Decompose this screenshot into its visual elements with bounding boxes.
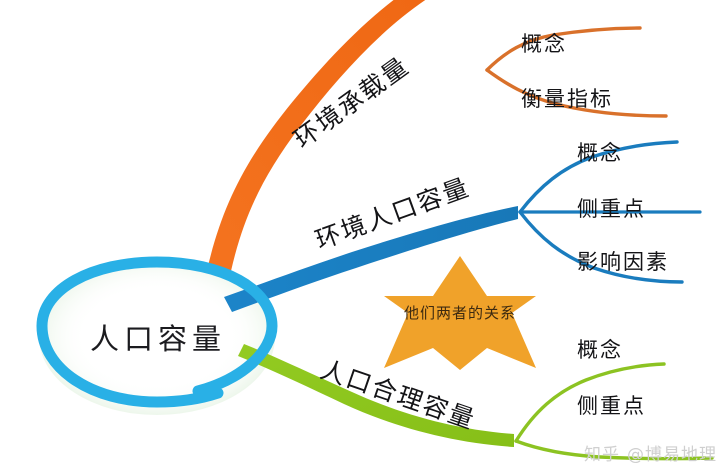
watermark: 知乎 @博易地理 [584,440,717,465]
relationship-star-label[interactable]: 他们两者的关系 [380,302,540,323]
leaf-label-green-concept[interactable]: 概念 [577,334,623,364]
leaf-label-green-focus-point[interactable]: 侧重点 [577,390,646,420]
watermark-site: 知乎 [584,440,620,465]
leaf-label-orange-concept[interactable]: 概念 [521,28,567,58]
leaf-label-blue-concept[interactable]: 概念 [577,137,623,167]
leaf-label-blue-influencing-factors[interactable]: 影响因素 [577,246,669,276]
mind-map-canvas: 人口容量 环境承载量 环境人口容量 人口合理容量 概念 衡量指标 概念 侧重点 … [0,0,727,473]
leaf-label-blue-focus-point[interactable]: 侧重点 [577,193,646,223]
watermark-username: @博易地理 [627,440,717,465]
root-node-label[interactable]: 人口容量 [52,316,264,358]
leaf-label-orange-measurement-indicator[interactable]: 衡量指标 [521,83,613,113]
